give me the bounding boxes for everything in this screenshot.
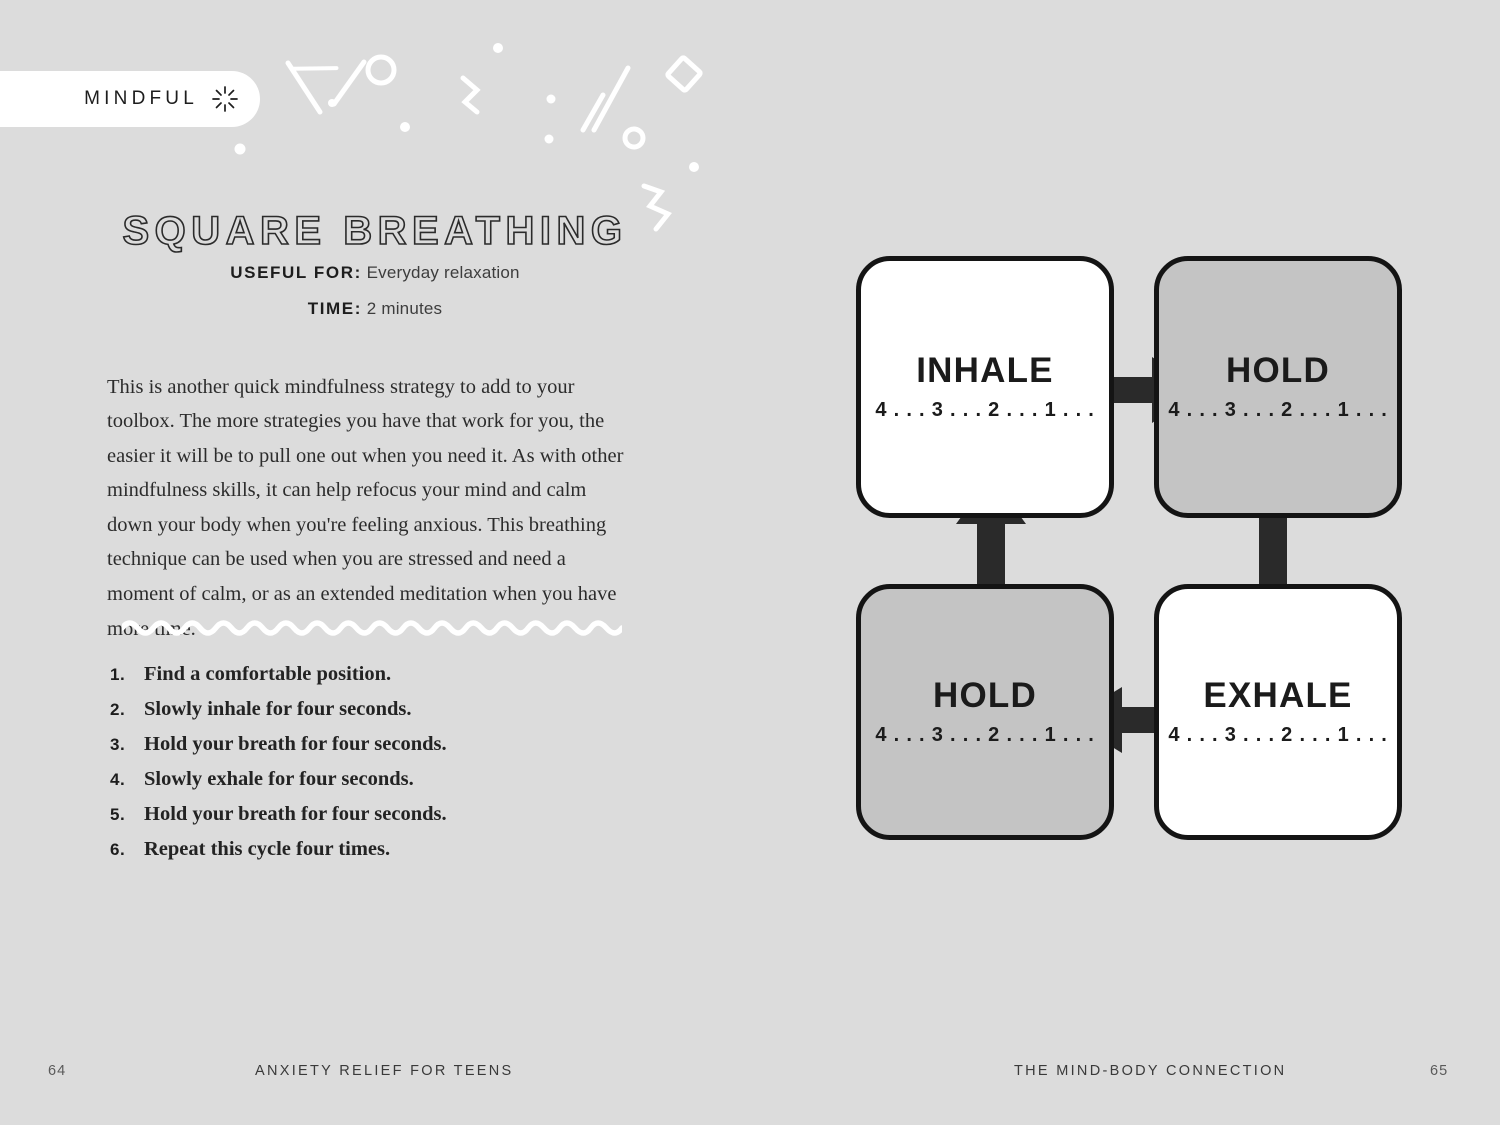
step-text: Hold your breath for four seconds. xyxy=(144,733,447,756)
flow-box-hold-bottom[interactable]: HOLD 4 . . . 3 . . . 2 . . . 1 . . . xyxy=(856,584,1114,840)
step-number: 2. xyxy=(110,700,144,720)
list-item: 6. Repeat this cycle four times. xyxy=(110,838,650,873)
step-text: Find a comfortable position. xyxy=(144,663,391,686)
step-number: 4. xyxy=(110,770,144,790)
list-item: 3. Hold your breath for four seconds. xyxy=(110,733,650,768)
flow-box-inhale[interactable]: INHALE 4 . . . 3 . . . 2 . . . 1 . . . xyxy=(856,256,1114,518)
meta-useful-for-label: USEFUL FOR: xyxy=(230,263,362,282)
meta-useful-for-value: Everyday relaxation xyxy=(367,263,520,282)
meta-time-label: TIME: xyxy=(308,299,362,318)
right-page: INHALE 4 . . . 3 . . . 2 . . . 1 . . . H… xyxy=(750,0,1500,1125)
step-number: 5. xyxy=(110,805,144,825)
book-spread: MINDFUL SQUARE BREATHING USEFUL FOR: Eve… xyxy=(0,0,1500,1125)
left-page: SQUARE BREATHING USEFUL FOR: Everyday re… xyxy=(0,0,750,1125)
step-text: Hold your breath for four seconds. xyxy=(144,803,447,826)
list-item: 1. Find a comfortable position. xyxy=(110,663,650,698)
footer-page-number-left: 64 xyxy=(48,1063,66,1079)
meta-time: TIME: 2 minutes xyxy=(0,299,750,319)
wavy-divider xyxy=(122,615,622,637)
list-item: 2. Slowly inhale for four seconds. xyxy=(110,698,650,733)
step-number: 3. xyxy=(110,735,144,755)
step-text: Slowly exhale for four seconds. xyxy=(144,768,414,791)
meta-time-value: 2 minutes xyxy=(367,299,443,318)
flow-box-countdown: 4 . . . 3 . . . 2 . . . 1 . . . xyxy=(875,399,1094,422)
step-number: 6. xyxy=(110,840,144,860)
flow-box-title: HOLD xyxy=(933,678,1037,713)
flow-box-exhale[interactable]: EXHALE 4 . . . 3 . . . 2 . . . 1 . . . xyxy=(1154,584,1402,840)
body-paragraph: This is another quick mindfulness strate… xyxy=(107,370,632,647)
flow-box-title: HOLD xyxy=(1226,353,1330,388)
flow-box-countdown: 4 . . . 3 . . . 2 . . . 1 . . . xyxy=(875,724,1094,747)
footer-book-title: ANXIETY RELIEF FOR TEENS xyxy=(255,1063,514,1079)
square-breathing-diagram: INHALE 4 . . . 3 . . . 2 . . . 1 . . . H… xyxy=(850,250,1410,850)
list-item: 4. Slowly exhale for four seconds. xyxy=(110,768,650,803)
footer-page-number-right: 65 xyxy=(1430,1063,1448,1079)
footer-chapter-title: THE MIND-BODY CONNECTION xyxy=(1014,1063,1286,1079)
step-text: Slowly inhale for four seconds. xyxy=(144,698,411,721)
list-item: 5. Hold your breath for four seconds. xyxy=(110,803,650,838)
flow-box-hold-top[interactable]: HOLD 4 . . . 3 . . . 2 . . . 1 . . . xyxy=(1154,256,1402,518)
flow-box-countdown: 4 . . . 3 . . . 2 . . . 1 . . . xyxy=(1168,399,1387,422)
flow-box-title: EXHALE xyxy=(1203,678,1352,713)
page-title: SQUARE BREATHING xyxy=(0,209,750,254)
flow-box-title: INHALE xyxy=(916,353,1053,388)
meta-useful-for: USEFUL FOR: Everyday relaxation xyxy=(0,263,750,283)
step-number: 1. xyxy=(110,665,144,685)
steps-list: 1. Find a comfortable position. 2. Slowl… xyxy=(110,663,650,873)
step-text: Repeat this cycle four times. xyxy=(144,838,390,861)
flow-box-countdown: 4 . . . 3 . . . 2 . . . 1 . . . xyxy=(1168,724,1387,747)
